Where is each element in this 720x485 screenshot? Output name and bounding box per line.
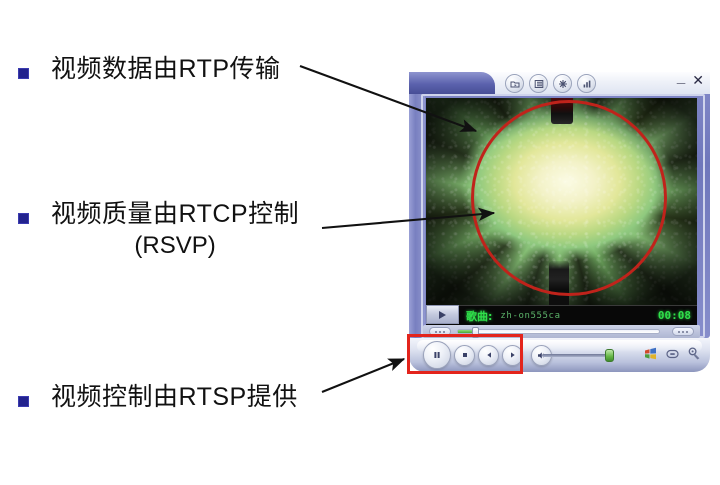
elapsed-time: 00:08 bbox=[658, 309, 691, 322]
equalizer-icon[interactable] bbox=[577, 74, 596, 93]
bullet-sublabel-rsvp: (RSVP) bbox=[51, 232, 299, 260]
annotation-circle bbox=[471, 100, 667, 296]
bullet-marker-icon bbox=[18, 396, 29, 407]
volume-slider[interactable] bbox=[542, 349, 642, 361]
window-controls: _ ✕ bbox=[677, 73, 704, 87]
arrow-rtsp bbox=[322, 359, 404, 392]
player-titlebar: _ ✕ bbox=[409, 72, 710, 94]
titlebar-icon-group bbox=[505, 74, 596, 93]
open-file-icon[interactable] bbox=[505, 74, 524, 93]
bullet-marker-icon bbox=[18, 68, 29, 79]
media-player-window[interactable]: _ ✕ 歌曲: zh-on555ca 00:08 bbox=[409, 72, 710, 372]
volume-track[interactable] bbox=[542, 354, 611, 357]
bullet-item-rtsp: 视频控制由RTSP提供 bbox=[18, 383, 298, 413]
playlist-icon[interactable] bbox=[529, 74, 548, 93]
close-button[interactable]: ✕ bbox=[692, 73, 704, 87]
annotation-highlight-box bbox=[407, 334, 523, 374]
bullet-item-rtp: 视频数据由RTP传输 bbox=[18, 55, 281, 85]
song-title: zh-on555ca bbox=[500, 311, 560, 321]
bullet-label-rtsp: 视频控制由RTSP提供 bbox=[51, 383, 298, 413]
bullet-label-rtp: 视频数据由RTP传输 bbox=[51, 55, 281, 85]
slide-canvas: 视频数据由RTP传输 视频质量由RTCP控制 (RSVP) 视频控制由RTSP提… bbox=[0, 0, 720, 485]
bullet-item-rtcp: 视频质量由RTCP控制 (RSVP) bbox=[18, 200, 299, 260]
minimize-skin-icon[interactable] bbox=[665, 346, 680, 361]
media-guide-icon[interactable] bbox=[643, 346, 658, 361]
skin-chooser-icon[interactable] bbox=[687, 346, 702, 361]
minimize-button[interactable]: _ bbox=[677, 71, 685, 85]
volume-knob[interactable] bbox=[605, 349, 614, 362]
seek-right-handle[interactable] bbox=[672, 327, 694, 336]
effects-icon[interactable] bbox=[553, 74, 572, 93]
status-play-icon[interactable] bbox=[426, 305, 459, 324]
bullet-label-rtcp: 视频质量由RTCP控制 bbox=[51, 200, 299, 230]
player-frame: _ ✕ 歌曲: zh-on555ca 00:08 bbox=[409, 72, 710, 372]
song-label: 歌曲: bbox=[466, 308, 492, 324]
titlebar-left-cap bbox=[409, 72, 495, 94]
player-status-bar: 歌曲: zh-on555ca 00:08 bbox=[426, 305, 697, 325]
bullet-marker-icon bbox=[18, 213, 29, 224]
control-bar-tray bbox=[643, 346, 702, 361]
